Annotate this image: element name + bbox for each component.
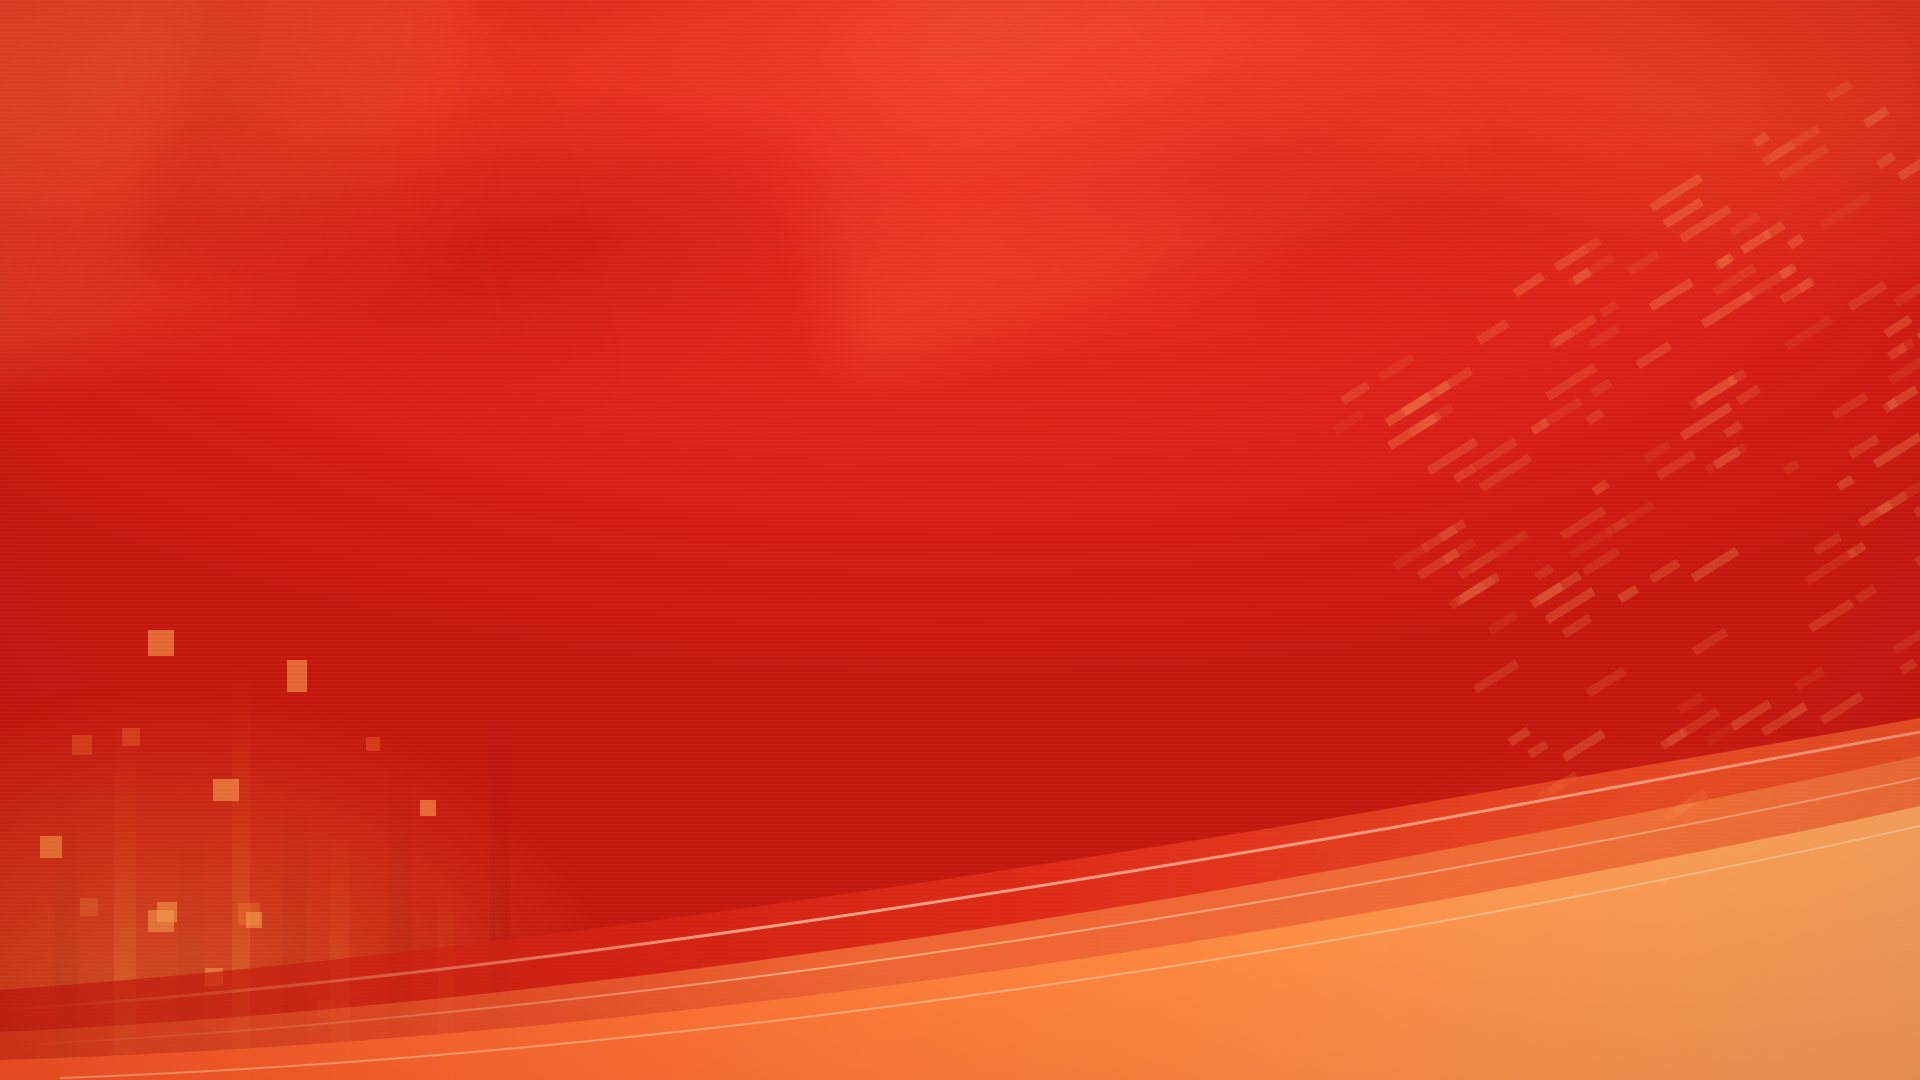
decor-square bbox=[40, 836, 62, 858]
decor-square bbox=[213, 779, 239, 801]
decor-square bbox=[317, 1000, 335, 1018]
decor-square bbox=[80, 898, 98, 916]
decor-square bbox=[420, 800, 436, 816]
decor-square bbox=[72, 735, 92, 755]
decor-square bbox=[122, 728, 140, 746]
decor-square bbox=[246, 912, 262, 928]
decor-square bbox=[148, 630, 174, 656]
decor-square bbox=[366, 737, 380, 751]
background-weave-texture bbox=[0, 0, 1920, 1080]
decor-square bbox=[287, 660, 307, 692]
decor-square bbox=[205, 968, 223, 986]
poster-canvas: 大力弘扬宪法精神 推动进一步全面深化改革 2024年贵州省“12·4”宪法宣传周… bbox=[0, 0, 1920, 1080]
decor-square bbox=[148, 910, 174, 932]
